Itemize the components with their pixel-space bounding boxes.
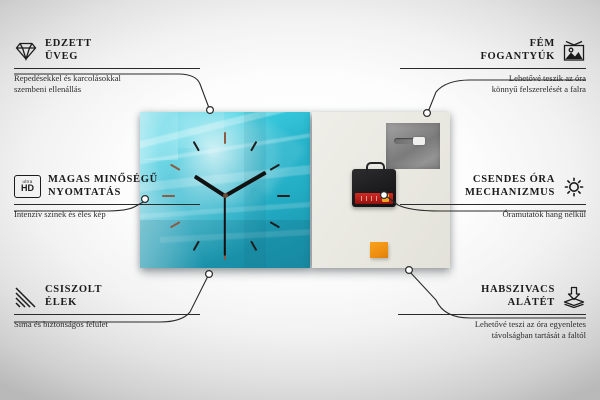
callout-divider — [400, 68, 586, 69]
battery — [355, 193, 393, 204]
clock-tick-12 — [224, 132, 226, 144]
callout-description: Óramutatók hang nélkül — [400, 209, 586, 220]
ultra-hd-icon: ultra HD — [14, 175, 41, 198]
mechanism-hook — [366, 162, 385, 173]
callout-title: MAGAS MINŐSÉGŰ NYOMTATÁS — [48, 174, 158, 199]
callout-divider — [14, 314, 200, 315]
clock-second-hand — [224, 196, 226, 256]
callout-divider — [398, 314, 586, 315]
callout-tempered-glass[interactable]: EDZETT ÜVEG Repedésekkel és karcolásokka… — [14, 38, 200, 95]
picture-hanger-icon — [562, 40, 586, 62]
clock-center-hub — [223, 193, 228, 198]
callout-description: Repedésekkel és karcolásokkal szembeni e… — [14, 73, 200, 95]
callout-description: Intenzív színek és éles kép — [14, 209, 200, 220]
polished-edges-icon — [14, 286, 38, 308]
quadrant-tint — [178, 112, 224, 148]
callout-divider — [400, 204, 586, 205]
callout-description: Lehetővé teszik az óra könnyű felszerelé… — [400, 73, 586, 95]
callout-description: Sima és biztonságos felület — [14, 319, 200, 330]
callout-polished-edges[interactable]: CSISZOLT ÉLEK Sima és biztonságos felüle… — [14, 284, 200, 330]
callout-title: HABSZIVACS ALÁTÉT — [481, 284, 555, 309]
callout-metal-handles[interactable]: FÉM FOGANTYÚK Lehetővé teszik az óra kön… — [400, 38, 586, 95]
callout-title: EDZETT ÜVEG — [45, 38, 92, 63]
callout-silent-mechanism[interactable]: CSENDES ÓRA MECHANIZMUS Óramutatók hang … — [400, 174, 586, 220]
gear-icon — [562, 176, 586, 198]
vertical-shade — [244, 112, 266, 268]
callout-title: CSISZOLT ÉLEK — [45, 284, 102, 309]
callout-foam-pad[interactable]: HABSZIVACS ALÁTÉT Lehetővé teszi az óra … — [398, 284, 586, 341]
clock-tick-3 — [277, 195, 290, 197]
hanger-slot — [394, 138, 424, 144]
foam-pad — [370, 242, 388, 258]
infographic-canvas: EDZETT ÜVEG Repedésekkel és karcolásokka… — [0, 0, 600, 400]
clock-tick-10 — [170, 164, 181, 171]
battery-terminal — [382, 194, 389, 202]
callout-title: FÉM FOGANTYÚK — [480, 38, 555, 63]
callout-divider — [14, 204, 200, 205]
quadrant-tint — [140, 112, 178, 160]
metal-hanger-plate — [386, 123, 440, 169]
callout-divider — [14, 68, 200, 69]
callout-title: CSENDES ÓRA MECHANIZMUS — [465, 174, 555, 199]
clock-mechanism-box — [352, 169, 396, 207]
diamond-icon — [14, 40, 38, 62]
callout-high-quality-print[interactable]: ultra HD MAGAS MINŐSÉGŰ NYOMTATÁS Intenz… — [14, 174, 200, 220]
foam-pad-arrow-icon — [562, 286, 586, 308]
callout-description: Lehetővé teszi az óra egyenletes távolsá… — [398, 319, 586, 341]
